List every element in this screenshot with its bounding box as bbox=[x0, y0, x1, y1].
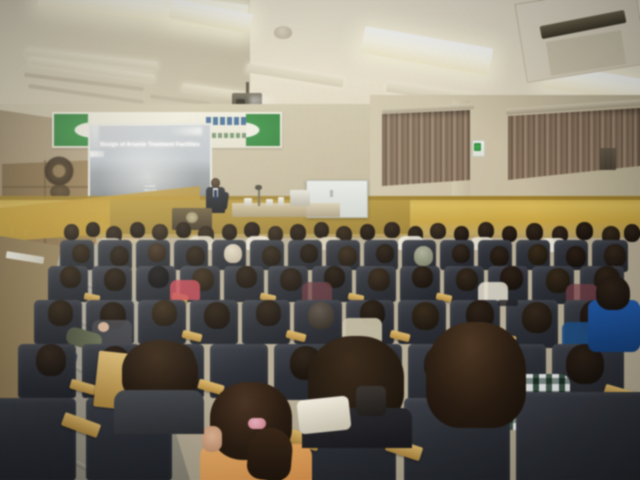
stage-monitor bbox=[290, 190, 310, 206]
audience-head bbox=[148, 243, 166, 262]
table-item-1 bbox=[244, 198, 252, 206]
audience-head bbox=[104, 268, 126, 291]
banner-text-korean bbox=[206, 117, 248, 125]
audience-head bbox=[368, 268, 390, 291]
foreground-person-right bbox=[418, 322, 534, 442]
audience-torso bbox=[478, 282, 508, 302]
audience-head bbox=[60, 266, 81, 288]
microphone-stand bbox=[258, 188, 260, 206]
audience-head bbox=[36, 344, 66, 376]
audience-head bbox=[308, 302, 334, 329]
audience-head bbox=[48, 300, 73, 326]
banner-subtext-korean bbox=[212, 133, 246, 138]
cabinet-seam-h1 bbox=[2, 186, 96, 188]
table-item-3 bbox=[278, 197, 284, 206]
foreground-person-hand bbox=[202, 426, 222, 452]
audience-head bbox=[604, 244, 626, 267]
audience-head bbox=[280, 268, 302, 291]
foreground-person-left-shirt bbox=[114, 390, 204, 434]
window-gap-light bbox=[600, 148, 616, 170]
auditorium-photo: Design of Arsenic Treatment Facilities ·… bbox=[0, 0, 640, 480]
curtain-1 bbox=[382, 110, 470, 186]
audience-head bbox=[452, 244, 470, 263]
presenter-head bbox=[211, 178, 220, 188]
audience-head bbox=[204, 302, 230, 329]
audience-head bbox=[430, 223, 446, 239]
audience-head bbox=[72, 244, 90, 263]
slide-logo bbox=[90, 151, 104, 157]
audience-head bbox=[64, 224, 79, 240]
audience-head bbox=[152, 224, 168, 240]
foreground-bag-strap bbox=[356, 386, 386, 416]
table-item-2 bbox=[266, 199, 273, 206]
banner-green-right bbox=[246, 114, 280, 146]
audience-head bbox=[528, 244, 548, 265]
microphone-icon bbox=[255, 185, 262, 190]
whiteboard-marking bbox=[330, 190, 333, 197]
wall-wreath-icon bbox=[44, 156, 74, 186]
foreground-bag bbox=[296, 395, 351, 434]
banner-green-left bbox=[54, 114, 88, 146]
auditorium-seat[interactable] bbox=[0, 398, 76, 480]
audience-torso bbox=[302, 282, 332, 302]
audience-head bbox=[596, 276, 630, 310]
foreground-person-right-hair bbox=[426, 322, 526, 428]
audience-head bbox=[130, 222, 145, 238]
audience-head bbox=[222, 224, 237, 240]
audience-head bbox=[412, 266, 433, 288]
foreground-person-left bbox=[118, 340, 202, 432]
audience-head bbox=[360, 224, 375, 240]
ceiling-dome-fitting bbox=[274, 26, 292, 39]
audience-head bbox=[384, 222, 400, 238]
presenter-tie bbox=[214, 190, 217, 199]
audience-head bbox=[256, 300, 281, 326]
audience-head bbox=[290, 224, 306, 241]
glasses-icon bbox=[498, 300, 518, 306]
audience-head bbox=[576, 222, 593, 240]
audience-head bbox=[526, 223, 543, 241]
podium-emblem bbox=[186, 212, 198, 223]
screen-glare bbox=[168, 127, 202, 135]
audience-head bbox=[262, 246, 281, 266]
audience-hand bbox=[98, 322, 109, 332]
audience-head bbox=[110, 246, 129, 266]
auditorium-seat[interactable] bbox=[516, 392, 640, 480]
audience-torso bbox=[170, 280, 200, 300]
audience-head bbox=[566, 246, 586, 267]
audience-head bbox=[186, 246, 205, 266]
audience-head bbox=[300, 244, 318, 263]
audience-head bbox=[376, 244, 394, 263]
audience-head bbox=[338, 246, 357, 266]
hair-tie-icon bbox=[248, 418, 266, 429]
audience-head bbox=[236, 266, 257, 288]
audience-head bbox=[490, 246, 509, 266]
exit-icon bbox=[474, 143, 481, 151]
audience-head bbox=[152, 300, 177, 326]
slide-title: Design of Arsenic Treatment Facilities bbox=[90, 142, 210, 148]
audience-head bbox=[414, 246, 433, 266]
audience-head bbox=[314, 222, 329, 238]
audience-head bbox=[148, 266, 169, 288]
audience-head bbox=[456, 268, 478, 291]
audience-head bbox=[224, 244, 242, 263]
audience-head bbox=[176, 222, 191, 238]
audience-head bbox=[86, 222, 100, 237]
